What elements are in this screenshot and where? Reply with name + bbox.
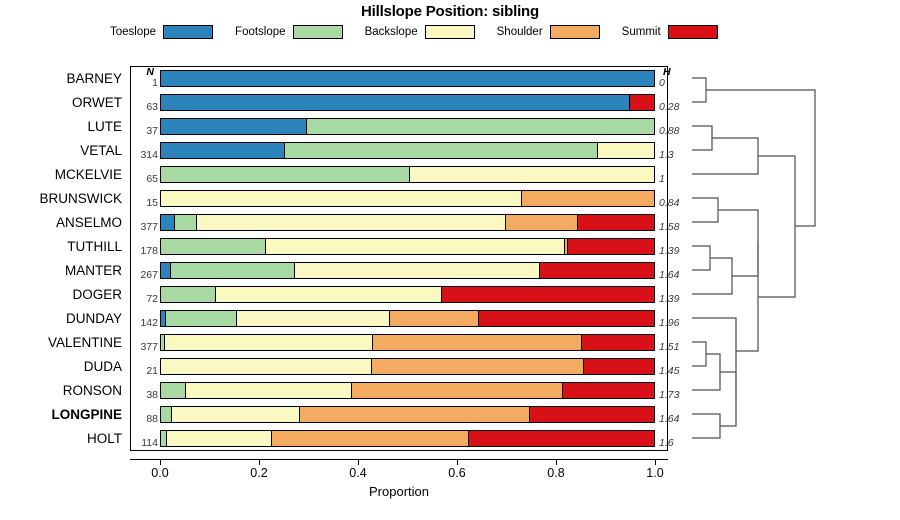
bar-segment-shoulder	[300, 407, 530, 422]
n-value-mckelvie: 65	[146, 174, 158, 185]
n-value-ronson: 38	[146, 390, 158, 401]
legend-entry-shoulder: Shoulder	[497, 25, 600, 39]
h-column: H 00.280.881.310.841.581.391.641.391.961…	[655, 66, 695, 451]
bar-segment-footslope	[166, 311, 237, 326]
x-axis-line	[130, 459, 668, 460]
n-value-orwet: 63	[146, 102, 158, 113]
n-value-doger: 72	[146, 294, 158, 305]
h-value-mckelvie: 1	[659, 174, 665, 185]
bar-segment-toeslope	[161, 95, 630, 110]
bar-row	[160, 334, 655, 351]
category-label-mckelvie: MCKELVIE	[55, 168, 122, 182]
bar-row	[160, 238, 655, 255]
h-value-brunswick: 0.84	[659, 198, 679, 209]
category-label-tuthill: TUTHILL	[67, 240, 122, 254]
x-tick	[556, 459, 557, 465]
bar-segment-summit	[582, 335, 653, 350]
category-label-anselmo: ANSELMO	[56, 216, 122, 230]
bar-segment-footslope	[171, 263, 295, 278]
bar-segment-summit	[563, 383, 654, 398]
n-value-barney: 1	[152, 78, 158, 89]
x-tick	[457, 459, 458, 465]
dendro-join-dunday-k	[692, 318, 736, 399]
x-tick-label: 0.0	[151, 466, 168, 480]
h-value-valentine: 1.51	[659, 342, 679, 353]
bar-segment-summit	[442, 287, 654, 302]
bar-segment-shoulder	[390, 311, 479, 326]
bar-row	[160, 382, 655, 399]
legend-swatch	[550, 25, 600, 39]
bar-row	[160, 358, 655, 375]
x-tick	[259, 459, 260, 465]
bar-row	[160, 310, 655, 327]
bar-segment-toeslope	[161, 119, 307, 134]
bar-segment-toeslope	[161, 215, 175, 230]
x-tick	[655, 459, 656, 465]
bar-row	[160, 166, 655, 183]
h-value-anselmo: 1.58	[659, 222, 679, 233]
bar-row	[160, 214, 655, 231]
bar-segment-backslope	[161, 191, 522, 206]
dendro-join-g-l	[736, 243, 758, 351]
h-value-lute: 0.88	[659, 126, 679, 137]
legend-swatch	[163, 25, 213, 39]
category-label-duda: DUDA	[84, 360, 122, 374]
x-tick-label: 0.6	[448, 466, 465, 480]
bar-segment-summit	[630, 95, 654, 110]
h-value-manter: 1.64	[659, 270, 679, 281]
category-label-manter: MANTER	[65, 264, 122, 278]
bar-segment-backslope	[197, 215, 505, 230]
category-label-barney: BARNEY	[66, 72, 122, 86]
n-value-longpine: 88	[146, 414, 158, 425]
h-value-barney: 0	[659, 78, 665, 89]
legend-entry-toeslope: Toeslope	[110, 25, 213, 39]
bar-segment-footslope	[161, 287, 216, 302]
n-value-dunday: 142	[140, 318, 158, 329]
dendro-join-lute-vetal	[692, 126, 712, 150]
x-axis-title: Proportion	[130, 484, 668, 499]
legend-swatch	[668, 25, 718, 39]
bar-row	[160, 70, 655, 87]
category-label-doger: DOGER	[72, 288, 122, 302]
h-value-tuthill: 1.39	[659, 246, 679, 257]
dendro-join-root	[706, 90, 815, 226]
dendro-join-b-mckelvie	[692, 138, 758, 174]
bar-row	[160, 94, 655, 111]
bar-segment-footslope	[285, 143, 598, 158]
bar-segment-summit	[469, 431, 654, 446]
dendro-join-d-f	[718, 210, 758, 276]
bar-segment-footslope	[161, 167, 410, 182]
n-value-tuthill: 178	[140, 246, 158, 257]
dendro-join-barney-orwet	[692, 78, 706, 102]
legend-entry-footslope: Footslope	[235, 25, 343, 39]
category-label-holt: HOLT	[87, 432, 122, 446]
bar-segment-footslope	[161, 383, 186, 398]
category-label-vetal: VETAL	[80, 144, 122, 158]
bar-segment-backslope	[167, 431, 272, 446]
bar-segment-toeslope	[161, 143, 285, 158]
bar-segment-backslope	[266, 239, 565, 254]
legend-label: Summit	[622, 26, 661, 38]
n-column: N 16337314651537717826772142377213888114	[130, 66, 160, 451]
bar-segment-summit	[540, 263, 654, 278]
dendrogram	[690, 66, 895, 451]
bar-segment-backslope	[410, 167, 654, 182]
x-tick-label: 0.2	[250, 466, 267, 480]
bar-segment-shoulder	[272, 431, 469, 446]
bar-row	[160, 142, 655, 159]
bar-segment-toeslope	[161, 71, 654, 86]
category-label-brunswick: BRUNSWICK	[39, 192, 122, 206]
bar-segment-shoulder	[373, 335, 583, 350]
n-value-anselmo: 377	[140, 222, 158, 233]
category-label-dunday: DUNDAY	[66, 312, 122, 326]
bar-row	[160, 118, 655, 135]
bar-segment-footslope	[161, 239, 266, 254]
bar-segment-summit	[530, 407, 654, 422]
h-value-vetal: 1.3	[659, 150, 674, 161]
bar-segment-backslope	[165, 335, 373, 350]
x-tick-label: 0.8	[547, 466, 564, 480]
legend-entry-backslope: Backslope	[365, 25, 475, 39]
legend-entry-summit: Summit	[622, 25, 718, 39]
bar-row	[160, 430, 655, 447]
category-label-valentine: VALENTINE	[48, 336, 122, 350]
n-value-lute: 37	[146, 126, 158, 137]
dendro-join-c-m	[758, 156, 795, 297]
dendro-join-longpine-holt	[692, 414, 720, 438]
bar-row	[160, 406, 655, 423]
bar-segment-backslope	[295, 263, 540, 278]
bar-segment-footslope	[161, 407, 172, 422]
bar-segment-shoulder	[352, 383, 563, 398]
bar-segment-shoulder	[372, 359, 583, 374]
bar-segment-backslope	[186, 383, 352, 398]
n-value-duda: 21	[146, 366, 158, 377]
n-value-valentine: 377	[140, 342, 158, 353]
h-value-ronson: 1.73	[659, 390, 679, 401]
dendro-join-tuthill-manter	[692, 246, 710, 270]
stacked-bars	[160, 66, 655, 451]
dendro-join-valentine-duda	[692, 342, 706, 366]
x-tick-label: 1.0	[646, 466, 663, 480]
bar-segment-summit	[578, 215, 654, 230]
legend-swatch	[293, 25, 343, 39]
legend: ToeslopeFootslopeBackslopeShoulderSummit	[110, 22, 790, 42]
bar-segment-backslope	[216, 287, 442, 302]
h-value-doger: 1.39	[659, 294, 679, 305]
bar-segment-summit	[568, 239, 654, 254]
bar-segment-backslope	[172, 407, 300, 422]
bar-row	[160, 262, 655, 279]
bar-segment-summit	[584, 359, 654, 374]
n-value-manter: 267	[140, 270, 158, 281]
dendrogram-svg	[690, 66, 895, 451]
category-axis-labels: BARNEYORWETLUTEVETALMCKELVIEBRUNSWICKANS…	[0, 66, 126, 451]
x-tick	[358, 459, 359, 465]
bar-segment-backslope	[237, 311, 390, 326]
n-value-vetal: 314	[140, 150, 158, 161]
bar-row	[160, 190, 655, 207]
dendro-join-i-j	[720, 372, 736, 426]
bar-segment-footslope	[307, 119, 654, 134]
legend-label: Toeslope	[110, 26, 156, 38]
dendro-join-e-doger	[692, 258, 732, 294]
legend-label: Shoulder	[497, 26, 543, 38]
bar-segment-backslope	[161, 359, 372, 374]
legend-swatch	[425, 25, 475, 39]
bar-segment-shoulder	[506, 215, 578, 230]
category-label-orwet: ORWET	[72, 96, 122, 110]
h-value-orwet: 0.28	[659, 102, 679, 113]
h-value-holt: 1.6	[659, 438, 674, 449]
category-label-longpine: LONGPINE	[51, 408, 122, 422]
bar-segment-shoulder	[522, 191, 654, 206]
category-label-ronson: RONSON	[63, 384, 122, 398]
h-value-longpine: 1.64	[659, 414, 679, 425]
x-tick	[160, 459, 161, 465]
bar-segment-backslope	[598, 143, 654, 158]
x-tick-label: 0.4	[349, 466, 366, 480]
legend-label: Footslope	[235, 26, 286, 38]
bar-segment-summit	[479, 311, 654, 326]
h-value-dunday: 1.96	[659, 318, 679, 329]
legend-label: Backslope	[365, 26, 418, 38]
dendro-join-brunswick-anselmo	[692, 198, 718, 222]
n-value-holt: 114	[141, 438, 158, 449]
h-value-duda: 1.45	[659, 366, 679, 377]
page-title: Hillslope Position: sibling	[0, 3, 900, 20]
bar-segment-footslope	[175, 215, 197, 230]
bar-segment-toeslope	[161, 263, 171, 278]
n-value-brunswick: 15	[146, 198, 158, 209]
category-label-lute: LUTE	[87, 120, 122, 134]
bar-row	[160, 286, 655, 303]
